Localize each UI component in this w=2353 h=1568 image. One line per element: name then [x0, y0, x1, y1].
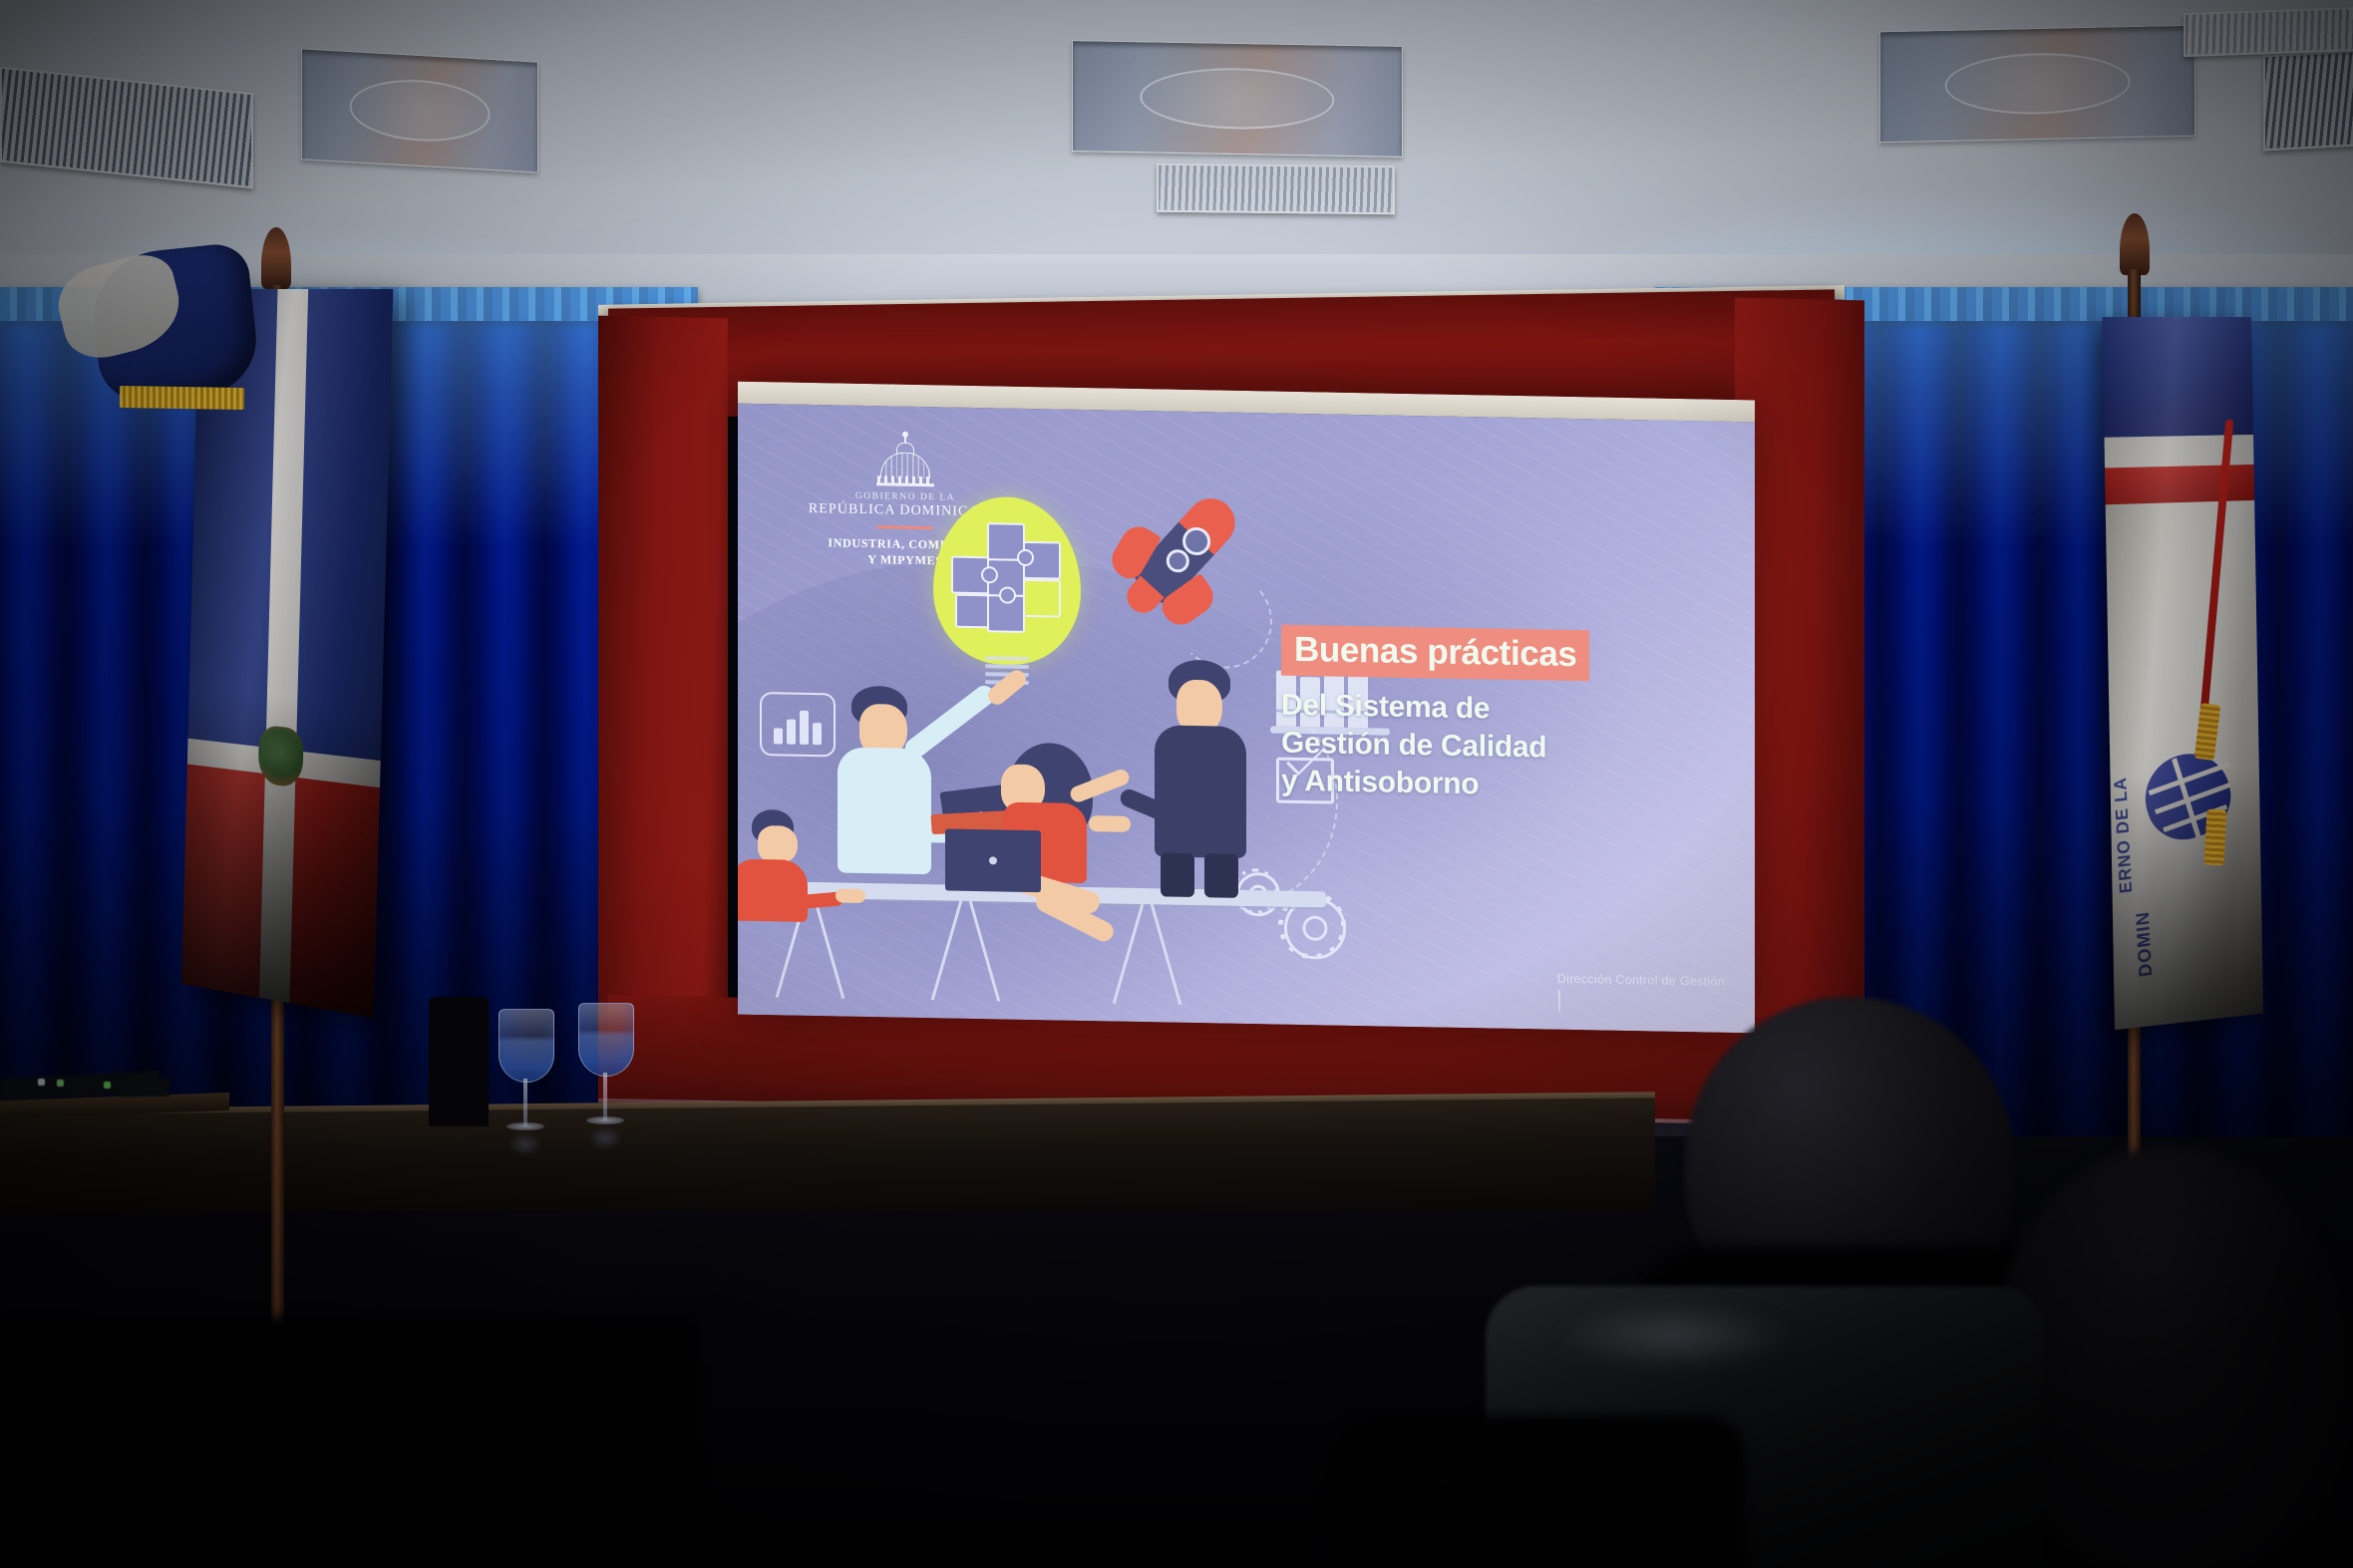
government-institutional-banner: ERNO DE LA DOMIN [2102, 317, 2263, 1030]
projection-screen[interactable]: GOBIERNO DE LA REPÚBLICA DOMINICANA INDU… [738, 382, 1755, 1034]
slide-title-block: Buenas prácticas Del Sistema de Gestión … [1281, 625, 1710, 807]
puzzle-pieces [951, 522, 1063, 648]
foreground-silhouette [0, 1316, 698, 1568]
desk-leg [1151, 904, 1182, 1005]
flag-tassel [2204, 809, 2227, 866]
status-led [104, 1082, 111, 1089]
recessed-light-panel [1879, 25, 2195, 144]
bar-chart-icon [760, 692, 836, 757]
hvac-vent [1157, 163, 1395, 215]
bottle-silhouette [429, 997, 489, 1126]
title-highlight: Buenas prácticas [1281, 625, 1589, 682]
banner-body: ERNO DE LA DOMIN [2106, 500, 2263, 1030]
desk-leg [1113, 904, 1145, 1004]
banner-red-band [2105, 465, 2254, 504]
flag-gold-band [120, 386, 244, 410]
light-disc [1140, 67, 1334, 132]
light-disc [1944, 51, 2131, 116]
foreground-silhouette [1326, 1415, 1745, 1568]
status-led [57, 1080, 64, 1087]
chair-highlight [1555, 1301, 1795, 1371]
auditorium-scene: GOBIERNO DE LA REPÚBLICA DOMINICANA INDU… [0, 0, 2353, 1568]
presentation-slide[interactable]: GOBIERNO DE LA REPÚBLICA DOMINICANA INDU… [738, 404, 1755, 1034]
banner-text-fragment-2: DOMIN [2132, 910, 2157, 979]
puzzle-lightbulb-icon [933, 495, 1081, 694]
recessed-light-panel [1072, 40, 1403, 157]
subtitle-line-3: y Antisoborno [1281, 762, 1710, 807]
slide-footer-text: Dirección Control de Gestión [1557, 972, 1725, 989]
av-equipment [118, 1079, 169, 1097]
hvac-vent [2263, 48, 2353, 151]
light-disc [350, 76, 491, 145]
laptop [945, 828, 1041, 892]
rocket-trail [1176, 572, 1272, 670]
banner-text-fragment-1: ERNO DE LA [2111, 776, 2138, 894]
slide-cursor [1558, 990, 1560, 1012]
status-led [38, 1079, 45, 1086]
recessed-light-panel [301, 48, 538, 172]
hvac-vent [2184, 7, 2353, 57]
